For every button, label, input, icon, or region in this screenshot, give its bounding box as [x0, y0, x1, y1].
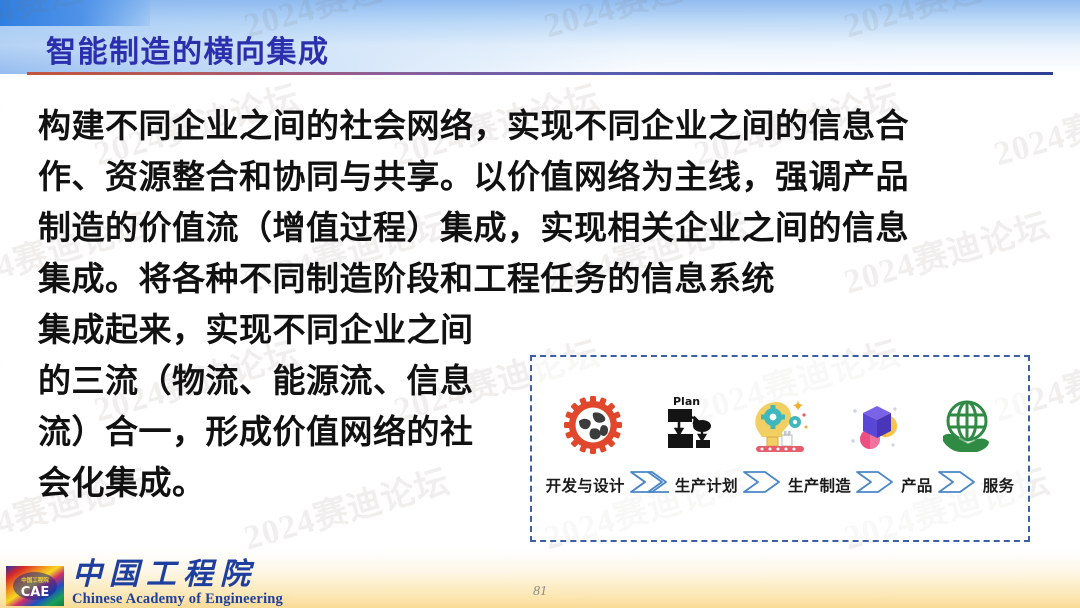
body-line: 集成。将各种不同制造阶段和工程任务的信息系统 [38, 253, 1008, 304]
header-accent-block [0, 0, 150, 26]
title-divider-rule [27, 72, 1053, 75]
body-line: 制造的价值流（增值过程）集成，实现相关企业之间的信息 [38, 202, 1008, 253]
body-line: 集成起来，实现不同企业之间 [38, 304, 538, 355]
page-title: 智能制造的横向集成 [46, 27, 330, 71]
slide-canvas: 智能制造的横向集成 构建不同企业之间的社会网络，实现不同企业之间的信息合 作、资… [0, 0, 1080, 608]
body-paragraph: 构建不同企业之间的社会网络，实现不同企业之间的信息合 作、资源整合和协同与共享。… [38, 100, 1008, 508]
svg-text:中国工程院: 中国工程院 [21, 576, 49, 584]
body-line: 会化集成。 [38, 457, 538, 508]
page-number: 81 [0, 584, 1080, 600]
watermark-text: 2024赛迪论坛 [0, 326, 5, 432]
body-line: 流）合一，形成价值网络的社 [38, 406, 538, 457]
watermark-text: 2024赛迪论坛 [0, 70, 5, 176]
body-line: 的三流（物流、能源流、信息 [38, 355, 538, 406]
body-line: 作、资源整合和协同与共享。以价值网络为主线，强调产品 [38, 151, 1008, 202]
body-line: 构建不同企业之间的社会网络，实现不同企业之间的信息合 [38, 100, 1008, 151]
